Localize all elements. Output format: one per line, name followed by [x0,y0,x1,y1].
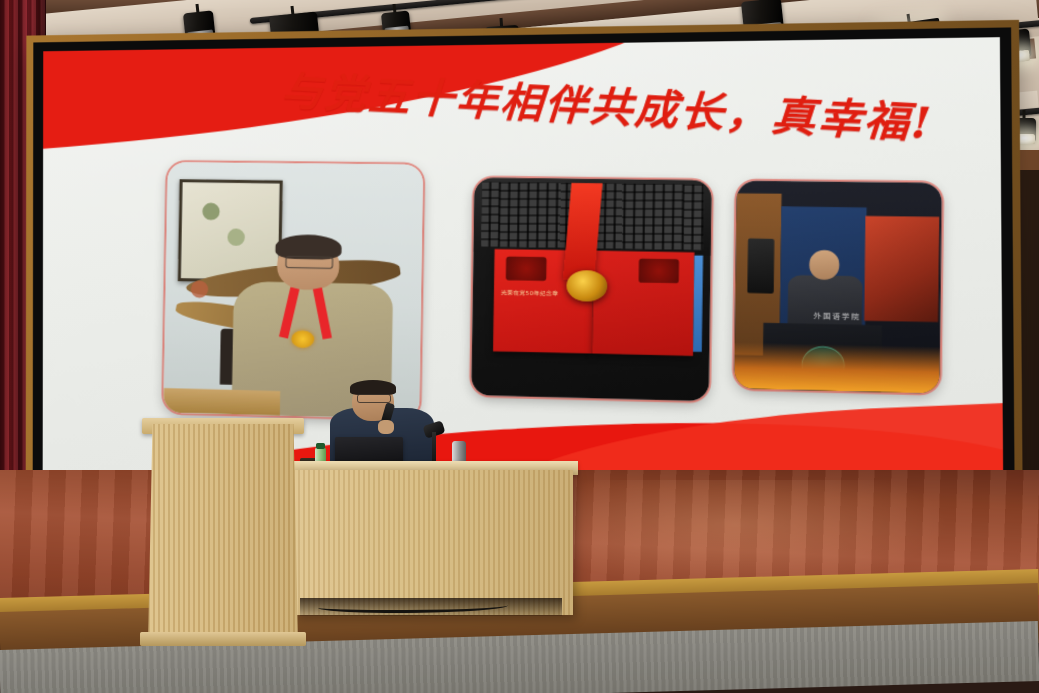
slide-title: 与党五十年相伴共成长，真幸福! [280,70,961,148]
projection-screen [864,215,940,321]
lectern-base [140,632,306,646]
auditorium-scene: 与党五十年相伴共成长，真幸福! [0,0,1039,693]
warm-glow [734,342,940,393]
bottle-cap [316,443,325,449]
commemorative-medal [291,330,314,348]
desk [293,470,573,615]
person-head [809,250,840,280]
presenter-hair [350,380,396,395]
commemorative-medal [567,270,608,301]
loudspeaker [747,239,774,293]
photo-podium-speech: 外国语学院 [734,180,942,393]
presenter-hand [378,420,394,434]
lectern [148,424,298,646]
glasses-icon [285,255,333,268]
glasses-icon [357,394,391,403]
blue-book-edge [693,254,704,351]
table [163,387,280,415]
photo-certificate: 光荣在党50年纪念章 [472,177,712,400]
